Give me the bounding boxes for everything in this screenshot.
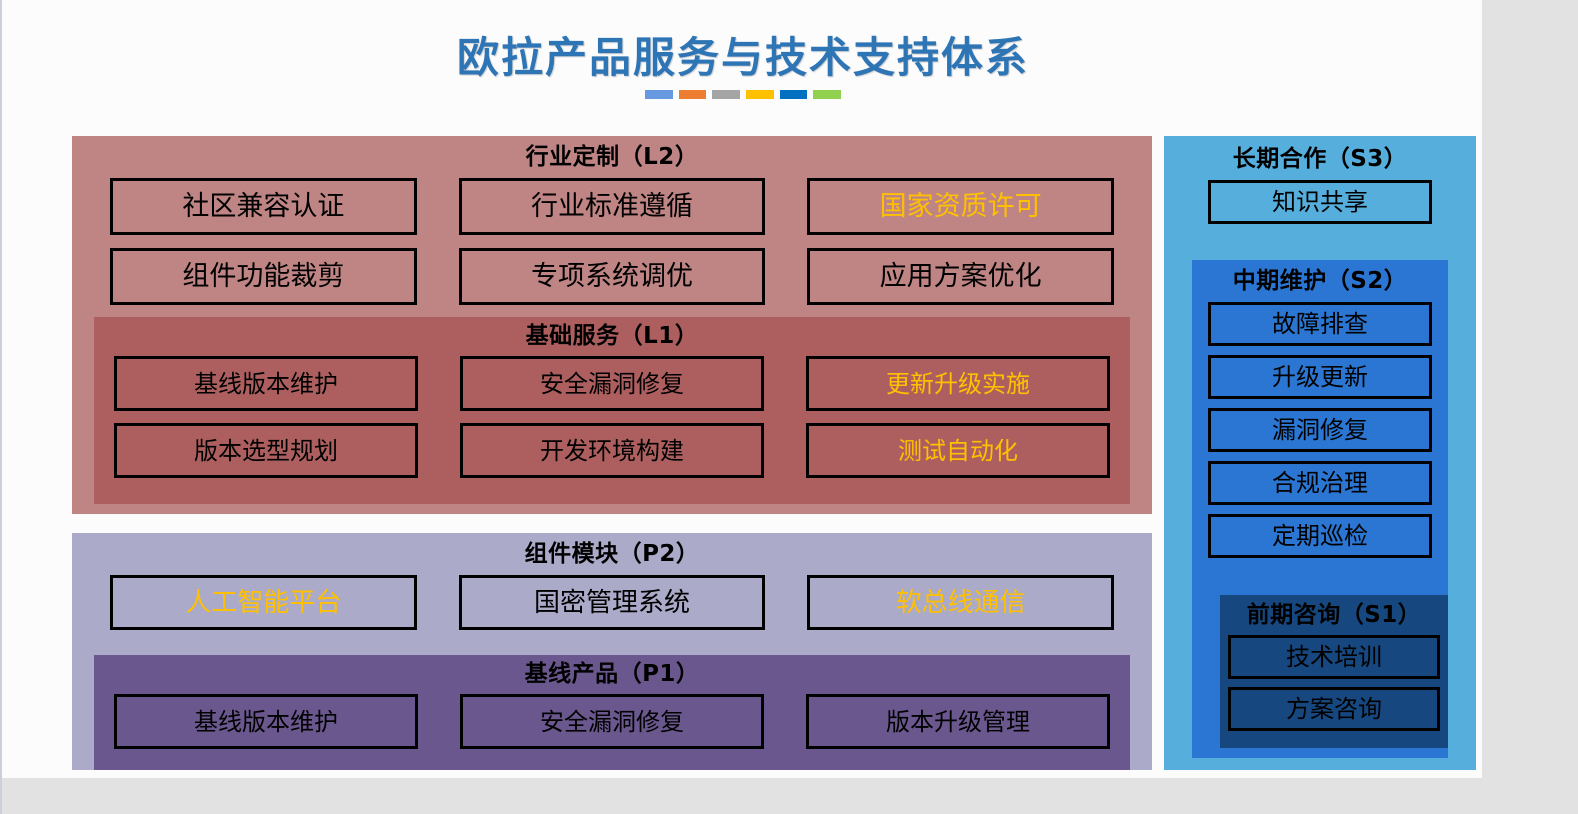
item-box[interactable]: 国家资质许可 — [807, 178, 1114, 235]
item-box[interactable]: 应用方案优化 — [807, 248, 1114, 305]
item-box[interactable]: 开发环境构建 — [460, 423, 764, 478]
panel-heading-s3: 长期合作（S3） — [1164, 148, 1476, 171]
item-grid-l1: 基线版本维护安全漏洞修复更新升级实施版本选型规划开发环境构建测试自动化 — [94, 356, 1130, 478]
panel-heading-l1: 基础服务（L1） — [94, 325, 1130, 348]
panel-baseline-product-p1: 基线产品（P1） 基线版本维护安全漏洞修复版本升级管理 — [94, 655, 1130, 770]
item-box[interactable]: 人工智能平台 — [110, 575, 417, 630]
item-box[interactable]: 升级更新 — [1208, 355, 1432, 399]
segment-yellow — [746, 90, 774, 99]
segment-light-blue — [645, 90, 673, 99]
item-box[interactable]: 更新升级实施 — [806, 356, 1110, 411]
item-box[interactable]: 安全漏洞修复 — [460, 356, 764, 411]
segment-gray — [712, 90, 740, 99]
item-grid-p1: 基线版本维护安全漏洞修复版本升级管理 — [94, 694, 1130, 749]
panel-heading-p2: 组件模块（P2） — [72, 543, 1152, 566]
item-box[interactable]: 安全漏洞修复 — [460, 694, 764, 749]
item-box[interactable]: 知识共享 — [1208, 180, 1432, 224]
title-block: 欧拉产品服务与技术支持体系 — [2, 34, 1484, 99]
item-box[interactable]: 测试自动化 — [806, 423, 1110, 478]
page-title: 欧拉产品服务与技术支持体系 — [2, 34, 1484, 82]
item-box[interactable]: 合规治理 — [1208, 461, 1432, 505]
slide-content-area: 欧拉产品服务与技术支持体系 行业定制（L2） 社区兼容认证行业标准遵循国家资质许… — [2, 0, 1484, 778]
panel-heading-p1: 基线产品（P1） — [94, 663, 1130, 686]
title-underline-bar — [645, 90, 841, 99]
item-box[interactable]: 社区兼容认证 — [110, 178, 417, 235]
panel-component-module-p2: 组件模块（P2） 人工智能平台国密管理系统软总线通信 基线产品（P1） 基线版本… — [72, 533, 1152, 770]
segment-dark-blue — [780, 90, 808, 99]
item-list-s2: 故障排查升级更新漏洞修复合规治理定期巡检 — [1192, 302, 1448, 558]
panel-long-term-cooperation-s3: 长期合作（S3） 知识共享 中期维护（S2） 故障排查升级更新漏洞修复合规治理定… — [1164, 136, 1476, 770]
item-box[interactable]: 故障排查 — [1208, 302, 1432, 346]
item-list-s1: 技术培训方案咨询 — [1220, 635, 1448, 731]
item-box[interactable]: 基线版本维护 — [114, 356, 418, 411]
item-box[interactable]: 定期巡检 — [1208, 514, 1432, 558]
panel-heading-l2: 行业定制（L2） — [72, 146, 1152, 169]
item-box[interactable]: 基线版本维护 — [114, 694, 418, 749]
item-box[interactable]: 漏洞修复 — [1208, 408, 1432, 452]
item-box[interactable]: 版本选型规划 — [114, 423, 418, 478]
segment-green — [813, 90, 841, 99]
item-box[interactable]: 组件功能裁剪 — [110, 248, 417, 305]
panel-mid-term-maintenance-s2: 中期维护（S2） 故障排查升级更新漏洞修复合规治理定期巡检 前期咨询（S1） 技… — [1192, 260, 1448, 758]
item-box[interactable]: 版本升级管理 — [806, 694, 1110, 749]
panel-industry-customization-l2: 行业定制（L2） 社区兼容认证行业标准遵循国家资质许可组件功能裁剪专项系统调优应… — [72, 136, 1152, 514]
item-list-s3: 知识共享 — [1164, 180, 1476, 224]
item-box[interactable]: 软总线通信 — [807, 575, 1114, 630]
item-grid-l2: 社区兼容认证行业标准遵循国家资质许可组件功能裁剪专项系统调优应用方案优化 — [72, 178, 1152, 305]
slide-canvas: 欧拉产品服务与技术支持体系 行业定制（L2） 社区兼容认证行业标准遵循国家资质许… — [0, 0, 1578, 814]
panel-basic-service-l1: 基础服务（L1） 基线版本维护安全漏洞修复更新升级实施版本选型规划开发环境构建测… — [94, 317, 1130, 504]
bottom-gutter — [2, 778, 1578, 814]
segment-orange — [679, 90, 707, 99]
item-box[interactable]: 方案咨询 — [1228, 687, 1440, 731]
item-box[interactable]: 国密管理系统 — [459, 575, 766, 630]
item-box[interactable]: 技术培训 — [1228, 635, 1440, 679]
item-grid-p2: 人工智能平台国密管理系统软总线通信 — [72, 575, 1152, 630]
item-box[interactable]: 行业标准遵循 — [459, 178, 766, 235]
panel-heading-s2: 中期维护（S2） — [1192, 270, 1448, 293]
panel-heading-s1: 前期咨询（S1） — [1220, 604, 1448, 627]
item-box[interactable]: 专项系统调优 — [459, 248, 766, 305]
right-gutter — [1482, 0, 1578, 814]
panel-early-consulting-s1: 前期咨询（S1） 技术培训方案咨询 — [1220, 595, 1448, 748]
